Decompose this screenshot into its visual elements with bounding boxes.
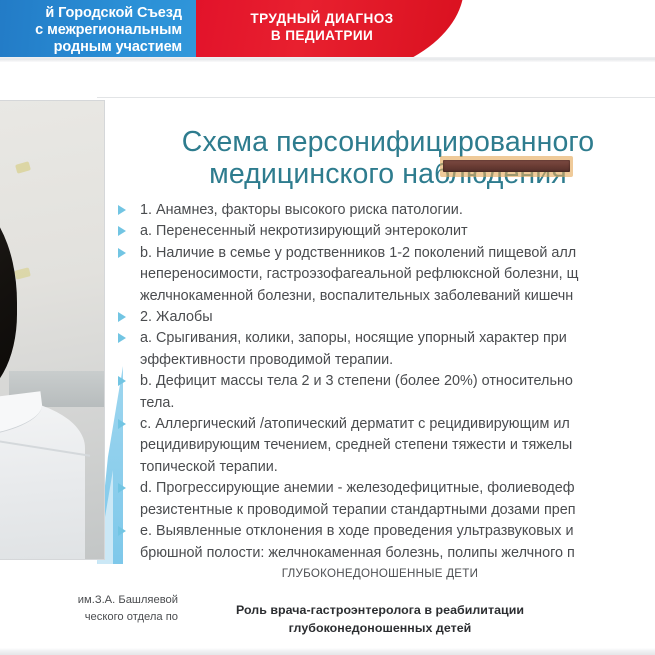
list-item-continuation: тела.: [116, 393, 655, 414]
list-item-label: рецидивирующим течением, средней степени…: [140, 437, 572, 453]
list-item-continuation: непереносимости, гастроэзофагеальной реф…: [116, 264, 655, 285]
banner-blue-line-2: с межрегиональным: [0, 22, 182, 39]
list-item-label: эффективности проводимой терапии.: [140, 352, 393, 368]
triangle-bullet-icon: [118, 205, 126, 215]
list-item: d. Прогрессирующие анемии - железодефици…: [116, 478, 655, 499]
list-item-label: тела.: [140, 395, 174, 411]
slide-canvas: Схема персонифицированного медицинского …: [97, 97, 655, 564]
triangle-bullet-icon: [118, 483, 126, 493]
list-item-continuation: эффективности проводимой терапии.: [116, 350, 655, 371]
list-item-label: d. Прогрессирующие анемии - железодефици…: [140, 480, 575, 496]
list-item: c. Аллергический /атопический дерматит с…: [116, 414, 655, 435]
triangle-bullet-icon: [118, 312, 126, 322]
list-item: 2. Жалобы: [116, 307, 655, 328]
bottom-divider: [0, 648, 655, 655]
slide-title-line-2: медицинского наблюдения: [121, 158, 655, 190]
conference-banner: й Городской Съезд с межрегиональным родн…: [0, 0, 655, 59]
list-item-label: a. Перенесенный некротизирующий энтероко…: [140, 223, 468, 239]
banner-theme-title: ТРУДНЫЙ ДИАГНОЗ В ПЕДИАТРИИ: [222, 11, 422, 44]
slide-title-line-1: Схема персонифицированного: [182, 126, 594, 158]
list-item-continuation: рецидивирующим течением, средней степени…: [116, 435, 655, 456]
list-item-label: резистентные к проводимой терапии станда…: [140, 502, 576, 518]
banner-blue-line-3: родным участием: [0, 39, 182, 56]
banner-red-line-1: ТРУДНЫЙ ДИАГНОЗ: [222, 11, 422, 28]
talk-title-line-2: глубоконедоношенных детей: [180, 619, 580, 637]
section-label: ГЛУБОКОНЕДОНОШЕННЫЕ ДЕТИ: [180, 566, 580, 582]
list-item-label: a. Срыгивания, колики, запоры, носящие у…: [140, 330, 567, 346]
list-item-label: c. Аллергический /атопический дерматит с…: [140, 416, 570, 432]
list-item-label: брюшной полости: желчнокаменная болезнь,…: [140, 545, 575, 561]
laser-pointer-highlight-artifact: [440, 156, 573, 177]
list-item: b. Наличие в семье у родственников 1-2 п…: [116, 243, 655, 264]
list-item: a. Перенесенный некротизирующий энтероко…: [116, 221, 655, 242]
triangle-bullet-icon: [118, 226, 126, 236]
slide-title: Схема персонифицированного медицинского …: [121, 126, 655, 190]
triangle-bullet-icon: [118, 526, 126, 536]
list-item-label: топической терапии.: [140, 459, 278, 475]
talk-title-line-1: Роль врача-гастроэнтеролога в реабилитац…: [180, 601, 580, 619]
banner-red-line-2: В ПЕДИАТРИИ: [222, 28, 422, 45]
presentation-viewer: й Городской Съезд с межрегиональным родн…: [0, 0, 655, 655]
list-item-label: 2. Жалобы: [140, 309, 213, 325]
credit-line-2: ческого отдела по: [0, 609, 178, 626]
speaker-affiliation-credit: им.З.А. Башляевой ческого отдела по: [0, 592, 178, 625]
list-item-label: e. Выявленные отклонения в ходе проведен…: [140, 523, 574, 539]
talk-title: Роль врача-гастроэнтеролога в реабилитац…: [180, 601, 580, 637]
banner-divider: [0, 57, 655, 62]
slide-bullet-list: 1. Анамнез, факторы высокого риска патол…: [116, 200, 655, 564]
triangle-bullet-icon: [118, 376, 126, 386]
list-item-label: 1. Анамнез, факторы высокого риска патол…: [140, 202, 463, 218]
list-item-continuation: резистентные к проводимой терапии станда…: [116, 500, 655, 521]
list-item: b. Дефицит массы тела 2 и 3 степени (бол…: [116, 371, 655, 392]
list-item-label: непереносимости, гастроэзофагеальной реф…: [140, 266, 578, 282]
list-item-label: b. Наличие в семье у родственников 1-2 п…: [140, 245, 576, 261]
caption-block: ГЛУБОКОНЕДОНОШЕННЫЕ ДЕТИ Роль врача-гаст…: [180, 566, 580, 637]
list-item-continuation: топической терапии.: [116, 457, 655, 478]
list-item-label: желчнокаменной болезни, воспалительных з…: [140, 288, 573, 304]
speaker-video-overlay[interactable]: [0, 100, 105, 560]
list-item-label: b. Дефицит массы тела 2 и 3 степени (бол…: [140, 373, 573, 389]
list-item-continuation: желчнокаменной болезни, воспалительных з…: [116, 286, 655, 307]
banner-blue-line-1: й Городской Съезд: [0, 5, 182, 22]
triangle-bullet-icon: [118, 333, 126, 343]
list-item: e. Выявленные отклонения в ходе проведен…: [116, 521, 655, 542]
list-item-continuation: брюшной полости: желчнокаменная болезнь,…: [116, 543, 655, 564]
triangle-bullet-icon: [118, 419, 126, 429]
credit-line-1: им.З.А. Башляевой: [0, 592, 178, 609]
triangle-bullet-icon: [118, 248, 126, 258]
banner-conference-name: й Городской Съезд с межрегиональным родн…: [0, 5, 182, 57]
list-item: a. Срыгивания, колики, запоры, носящие у…: [116, 328, 655, 349]
list-item: 1. Анамнез, факторы высокого риска патол…: [116, 200, 655, 221]
